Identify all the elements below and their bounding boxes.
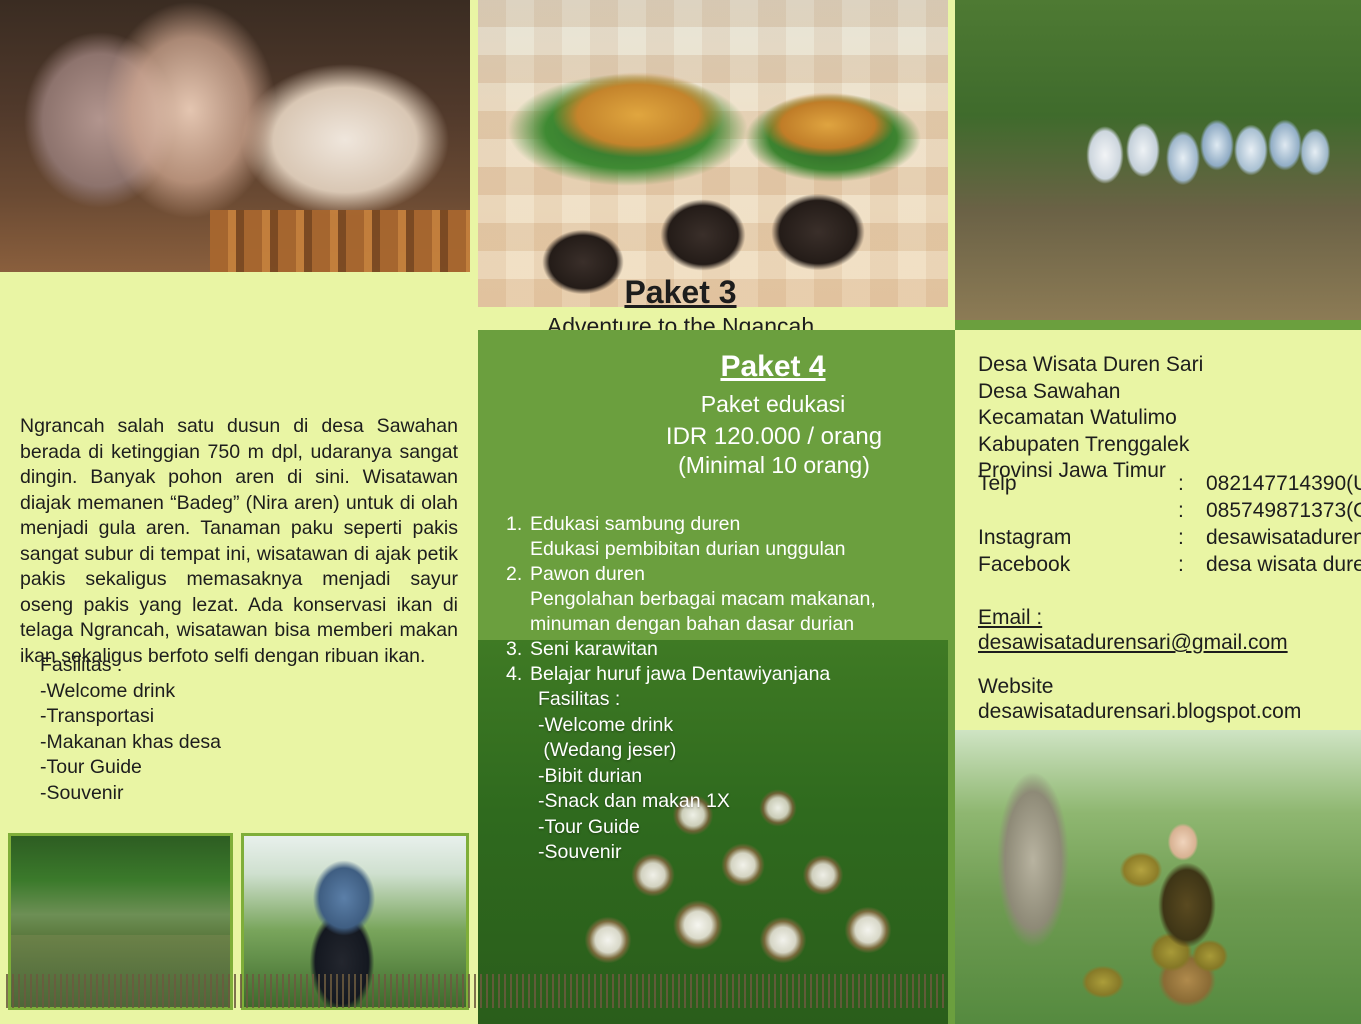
address-line: Desa Sawahan — [978, 379, 1203, 406]
list-item: -Makanan khas desa — [40, 730, 221, 756]
left-facilities-heading: Fasilitas : — [40, 653, 221, 679]
list-item: 3. Seni karawitan — [506, 637, 936, 662]
contact-separator: : — [1178, 551, 1206, 578]
contact-value: 082147714390(UN — [1206, 470, 1361, 497]
list-item-number: 4. — [506, 662, 530, 687]
table-row[interactable]: Instagram : desawisatadurensa — [978, 524, 1361, 551]
list-item: -Snack dan makan 1X — [538, 789, 730, 815]
middle-facilities-heading: Fasilitas : — [538, 687, 730, 713]
address-line: Desa Wisata Duren Sari — [978, 352, 1203, 379]
list-item: -Tour Guide — [40, 755, 221, 781]
list-item: -Transportasi — [40, 704, 221, 730]
list-item-detail: Pengolahan berbagai macam makanan, — [530, 587, 936, 612]
middle-left-gutter — [470, 0, 478, 1024]
email-label: Email : — [978, 604, 1042, 631]
brochure-page: Paket 3 Adventure to the Ngancah IDR 125… — [0, 0, 1361, 1024]
contact-label: Facebook — [978, 551, 1178, 578]
contact-separator: : — [1178, 524, 1206, 551]
website-url-link[interactable]: desawisatadurensari.blogspot.com — [978, 698, 1301, 725]
middle-package-title: Paket 4 — [608, 348, 938, 386]
list-item-number: 3. — [506, 637, 530, 662]
contact-label: Telp — [978, 470, 1178, 497]
list-item: -Souvenir — [40, 781, 221, 807]
middle-activities-list: 1. Edukasi sambung duren Edukasi pembibi… — [506, 512, 936, 687]
list-item-detail: minuman dengan bahan dasar durian — [530, 612, 936, 637]
list-item: 4. Belajar huruf jawa Dentawiyanjana — [506, 662, 936, 687]
list-item-detail: Edukasi pembibitan durian unggulan — [530, 537, 936, 562]
email-address-link[interactable]: desawisatadurensari@gmail.com — [978, 629, 1288, 656]
list-item: -Tour Guide — [538, 815, 730, 841]
middle-facilities-list: Fasilitas : -Welcome drink (Wedang jeser… — [538, 687, 730, 866]
left-package-title: Paket 3 — [0, 272, 1361, 312]
right-panel-left-green-bar — [948, 330, 955, 1024]
contact-label — [978, 497, 1178, 524]
list-item-label: Seni karawitan — [530, 637, 936, 662]
left-package-description: Ngrancah salah satu dusun di desa Sawaha… — [20, 414, 458, 669]
middle-package-minimum: (Minimal 10 orang) — [600, 450, 948, 480]
traditional-food-banana-leaf-photo — [478, 0, 948, 307]
list-item-number: 2. — [506, 562, 530, 587]
contact-separator: : — [1178, 470, 1206, 497]
address-line: Kecamatan Watulimo — [978, 405, 1203, 432]
woman-pouring-palm-sugar-photo — [0, 0, 470, 272]
list-item-label: Pawon duren — [530, 562, 936, 587]
list-item-label: Edukasi sambung duren — [530, 512, 936, 537]
list-item: -Welcome drink — [40, 679, 221, 705]
list-item: -Bibit durian — [538, 764, 730, 790]
contact-value: 085749871373(OV — [1206, 497, 1361, 524]
list-item-label: Belajar huruf jawa Dentawiyanjana — [530, 662, 936, 687]
list-item: -Welcome drink — [538, 713, 730, 739]
list-item: 1. Edukasi sambung duren — [506, 512, 936, 537]
woman-with-durians-river-photo — [955, 730, 1361, 1024]
address-line: Kabupaten Trenggalek — [978, 432, 1203, 459]
table-row[interactable]: Facebook : desa wisata duren — [978, 551, 1361, 578]
list-item: -Souvenir — [538, 840, 730, 866]
left-facilities-list: Fasilitas : -Welcome drink -Transportasi… — [40, 653, 221, 806]
right-panel-top-green-bar — [955, 320, 1361, 330]
table-row: Telp : 082147714390(UN — [978, 470, 1361, 497]
list-item-number: 1. — [506, 512, 530, 537]
contact-table: Telp : 082147714390(UN : 085749871373(OV… — [978, 470, 1361, 578]
facebook-handle[interactable]: desa wisata duren — [1206, 551, 1361, 578]
contact-separator: : — [1178, 497, 1206, 524]
village-address: Desa Wisata Duren Sari Desa Sawahan Keca… — [978, 352, 1203, 485]
list-item: (Wedang jeser) — [538, 738, 730, 764]
middle-package-price: IDR 120.000 / orang — [600, 421, 948, 452]
list-item: 2. Pawon duren — [506, 562, 936, 587]
website-label: Website — [978, 673, 1053, 700]
middle-package-subtitle: Paket edukasi — [608, 389, 938, 419]
instagram-handle[interactable]: desawisatadurensa — [1206, 524, 1361, 551]
contact-label: Instagram — [978, 524, 1178, 551]
table-row: : 085749871373(OV — [978, 497, 1361, 524]
